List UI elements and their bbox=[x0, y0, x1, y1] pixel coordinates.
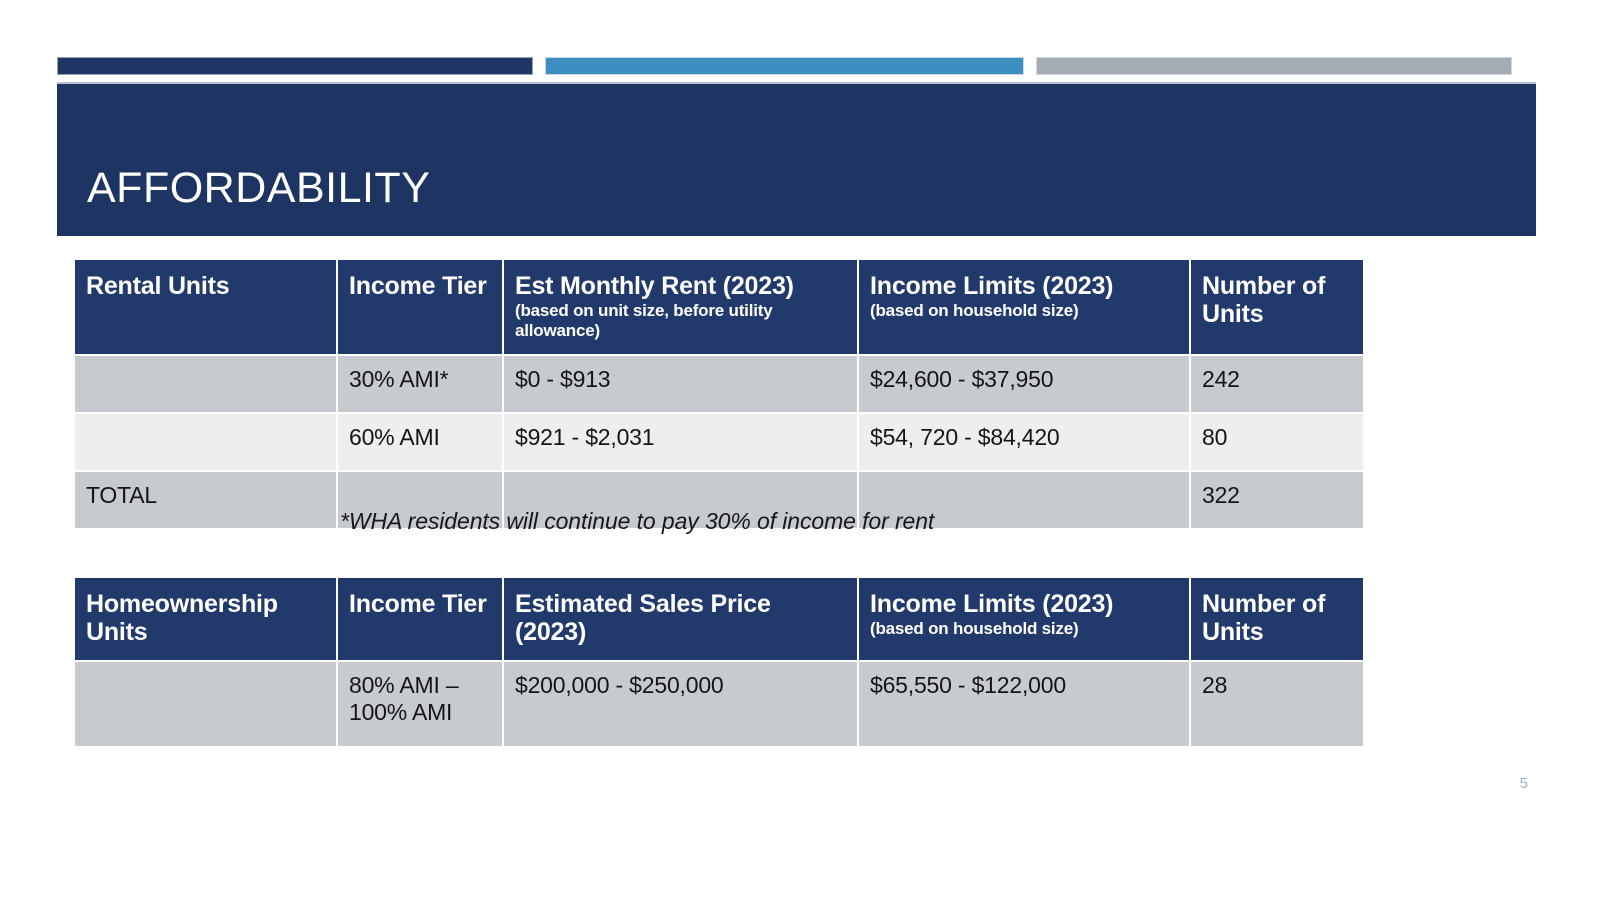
col-header-income-limits: Income Limits (2023) (based on household… bbox=[858, 260, 1190, 355]
col-header-main: Income Tier bbox=[349, 590, 491, 618]
col-header-main: Rental Units bbox=[86, 272, 325, 300]
rental-table-header: Rental Units Income Tier Est Monthly Ren… bbox=[75, 260, 1363, 355]
col-header-sub: (based on unit size, before utility allo… bbox=[515, 301, 846, 340]
cell-number-of-units: 28 bbox=[1190, 661, 1363, 746]
col-header-number-of-units: Number of Units bbox=[1190, 260, 1363, 355]
col-header-main: Est Monthly Rent (2023) bbox=[515, 272, 846, 300]
col-header-main: Income Limits (2023) bbox=[870, 590, 1178, 618]
rental-units-table: Rental Units Income Tier Est Monthly Ren… bbox=[75, 260, 1363, 528]
cell-number-of-units: 242 bbox=[1190, 355, 1363, 413]
table-header-row: Homeownership Units Income Tier Estimate… bbox=[75, 578, 1363, 661]
cell-label bbox=[75, 661, 337, 746]
cell-income-limits: $24,600 - $37,950 bbox=[858, 355, 1190, 413]
table-header-row: Rental Units Income Tier Est Monthly Ren… bbox=[75, 260, 1363, 355]
page-title: AFFORDABILITY bbox=[87, 167, 430, 210]
col-header-main: Income Tier bbox=[349, 272, 491, 300]
table-row: 30% AMI* $0 - $913 $24,600 - $37,950 242 bbox=[75, 355, 1363, 413]
cell-sales-price: $200,000 - $250,000 bbox=[503, 661, 858, 746]
cell-income-limits: $54, 720 - $84,420 bbox=[858, 413, 1190, 471]
col-header-rental-units: Rental Units bbox=[75, 260, 337, 355]
homeownership-table-header: Homeownership Units Income Tier Estimate… bbox=[75, 578, 1363, 661]
col-header-income-limits: Income Limits (2023) (based on household… bbox=[858, 578, 1190, 661]
rental-table-body: 30% AMI* $0 - $913 $24,600 - $37,950 242… bbox=[75, 355, 1363, 528]
table-row: 80% AMI – 100% AMI $200,000 - $250,000 $… bbox=[75, 661, 1363, 746]
cell-income-tier: 30% AMI* bbox=[337, 355, 503, 413]
col-header-homeownership-units: Homeownership Units bbox=[75, 578, 337, 661]
col-header-main: Income Limits (2023) bbox=[870, 272, 1178, 300]
cell-label bbox=[75, 413, 337, 471]
homeownership-table-body: 80% AMI – 100% AMI $200,000 - $250,000 $… bbox=[75, 661, 1363, 746]
homeownership-units-table: Homeownership Units Income Tier Estimate… bbox=[75, 578, 1363, 746]
col-header-income-tier: Income Tier bbox=[337, 578, 503, 661]
col-header-main: Estimated Sales Price (2023) bbox=[515, 590, 846, 646]
col-header-estimated-sales-price: Estimated Sales Price (2023) bbox=[503, 578, 858, 661]
col-header-sub: (based on household size) bbox=[870, 619, 1178, 639]
col-header-main: Number of Units bbox=[1202, 272, 1352, 328]
cell-income-limits: $65,550 - $122,000 bbox=[858, 661, 1190, 746]
cell-label-total: TOTAL bbox=[75, 471, 337, 528]
cell-number-of-units-total: 322 bbox=[1190, 471, 1363, 528]
footnote: *WHA residents will continue to pay 30% … bbox=[340, 508, 934, 535]
cell-label bbox=[75, 355, 337, 413]
cell-monthly-rent: $0 - $913 bbox=[503, 355, 858, 413]
col-header-sub: (based on household size) bbox=[870, 301, 1178, 321]
accent-bar-navy bbox=[57, 57, 533, 75]
table-row: 60% AMI $921 - $2,031 $54, 720 - $84,420… bbox=[75, 413, 1363, 471]
cell-income-tier: 80% AMI – 100% AMI bbox=[337, 661, 503, 746]
accent-bar-blue bbox=[545, 57, 1024, 75]
cell-number-of-units: 80 bbox=[1190, 413, 1363, 471]
cell-income-tier: 60% AMI bbox=[337, 413, 503, 471]
title-banner: AFFORDABILITY bbox=[57, 82, 1536, 236]
col-header-main: Homeownership Units bbox=[86, 590, 325, 646]
col-header-income-tier: Income Tier bbox=[337, 260, 503, 355]
col-header-est-monthly-rent: Est Monthly Rent (2023) (based on unit s… bbox=[503, 260, 858, 355]
cell-monthly-rent: $921 - $2,031 bbox=[503, 413, 858, 471]
accent-bar-gray bbox=[1036, 57, 1512, 75]
slide-number: 5 bbox=[1520, 775, 1528, 792]
col-header-main: Number of Units bbox=[1202, 590, 1352, 646]
col-header-number-of-units: Number of Units bbox=[1190, 578, 1363, 661]
